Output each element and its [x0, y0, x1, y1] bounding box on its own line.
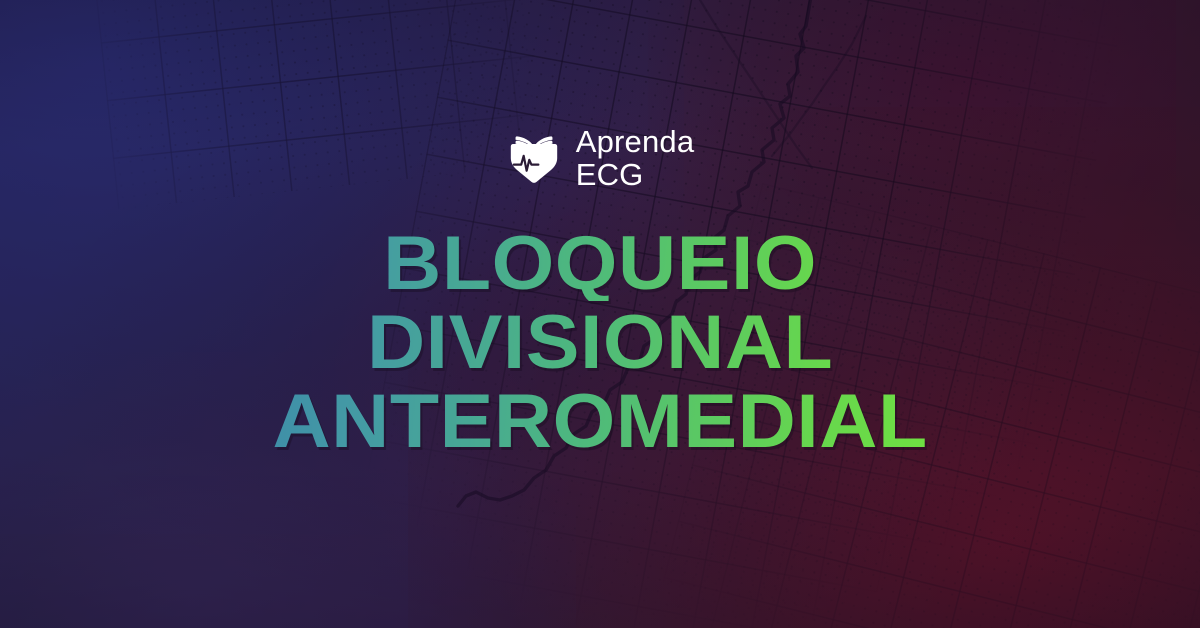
headline-line-1: BLOQUEIO [272, 226, 927, 301]
banner: Aprenda ECG BLOQUEIO DIVISIONAL ANTEROME… [0, 0, 1200, 628]
banner-content: Aprenda ECG BLOQUEIO DIVISIONAL ANTEROME… [0, 0, 1200, 628]
heart-book-ecg-icon [506, 131, 562, 187]
page-title: BLOQUEIO DIVISIONAL ANTEROMEDIAL [291, 226, 909, 460]
headline-line-3: ANTEROMEDIAL [272, 384, 927, 459]
brand-name-line-1: Aprenda [576, 126, 695, 159]
brand-lockup: Aprenda ECG [506, 126, 695, 192]
brand-name-line-2: ECG [576, 159, 695, 192]
brand-name: Aprenda ECG [576, 126, 695, 192]
headline-line-2: DIVISIONAL [272, 305, 927, 380]
